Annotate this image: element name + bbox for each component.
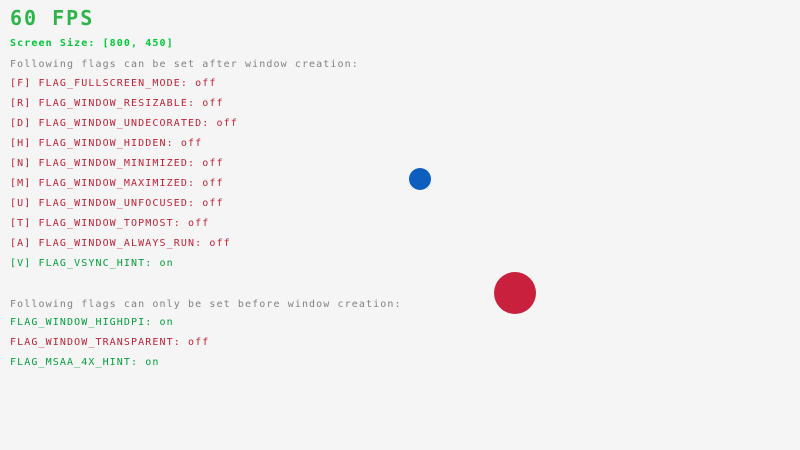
flag-row-flag-vsync-hint[interactable]: [V] FLAG_VSYNC_HINT: on (10, 259, 174, 269)
precreation-flags-heading: Following flags can only be set before w… (10, 300, 402, 310)
flag-row-flag-window-transparent: FLAG_WINDOW_TRANSPARENT: off (10, 338, 209, 348)
runtime-flags-heading: Following flags can be set after window … (10, 60, 359, 70)
flag-row-flag-window-topmost[interactable]: [T] FLAG_WINDOW_TOPMOST: off (10, 219, 209, 229)
flag-row-flag-msaa-4x-hint: FLAG_MSAA_4X_HINT: on (10, 358, 160, 368)
red-ball (494, 272, 536, 314)
blue-ball (409, 168, 431, 190)
flag-row-flag-window-unfocused[interactable]: [U] FLAG_WINDOW_UNFOCUSED: off (10, 199, 224, 209)
fps-counter: 60 FPS (10, 8, 94, 28)
raylib-window: 60 FPS Screen Size: [800, 450] Following… (0, 0, 800, 450)
flag-row-flag-window-resizable[interactable]: [R] FLAG_WINDOW_RESIZABLE: off (10, 99, 224, 109)
flag-row-flag-window-highdpi: FLAG_WINDOW_HIGHDPI: on (10, 318, 174, 328)
screen-size-label: Screen Size: [800, 450] (10, 39, 174, 49)
flag-row-flag-window-hidden[interactable]: [H] FLAG_WINDOW_HIDDEN: off (10, 139, 202, 149)
flag-row-flag-window-undecorated[interactable]: [D] FLAG_WINDOW_UNDECORATED: off (10, 119, 238, 129)
flag-row-flag-window-maximized[interactable]: [M] FLAG_WINDOW_MAXIMIZED: off (10, 179, 224, 189)
flag-row-flag-fullscreen-mode[interactable]: [F] FLAG_FULLSCREEN_MODE: off (10, 79, 217, 89)
flag-row-flag-window-always-run[interactable]: [A] FLAG_WINDOW_ALWAYS_RUN: off (10, 239, 231, 249)
flag-row-flag-window-minimized[interactable]: [N] FLAG_WINDOW_MINIMIZED: off (10, 159, 224, 169)
